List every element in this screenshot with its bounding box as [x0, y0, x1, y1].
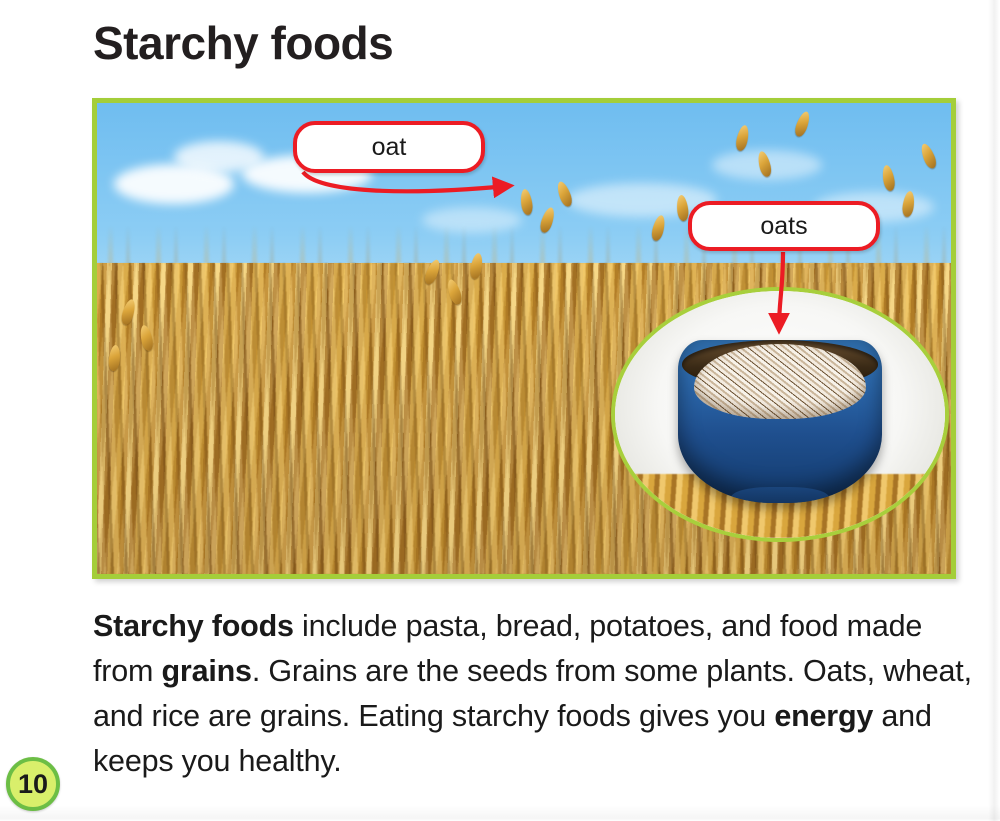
page-bottom-edge-shadow: [0, 805, 1000, 821]
bowl-foot: [731, 487, 829, 503]
body-paragraph: Starchy foods include pasta, bread, pota…: [93, 604, 973, 784]
page-title: Starchy foods: [93, 16, 393, 71]
body-text-bold: Starchy foods: [93, 609, 294, 643]
bowl-of-rolled-oats-inset: [611, 287, 949, 542]
callout-oats[interactable]: oats: [688, 201, 880, 251]
callout-oat-label: oat: [372, 133, 407, 162]
callout-oats-label: oats: [760, 212, 807, 241]
body-text-bold: energy: [774, 699, 873, 733]
blue-bowl: [678, 340, 883, 503]
page-right-edge-shadow: [974, 0, 1000, 821]
page-number-value: 10: [18, 769, 48, 800]
book-page: Starchy foods: [0, 0, 1000, 821]
page-number-badge: 10: [6, 757, 60, 811]
callout-oat[interactable]: oat: [293, 121, 485, 173]
body-text-bold: grains: [161, 654, 251, 688]
